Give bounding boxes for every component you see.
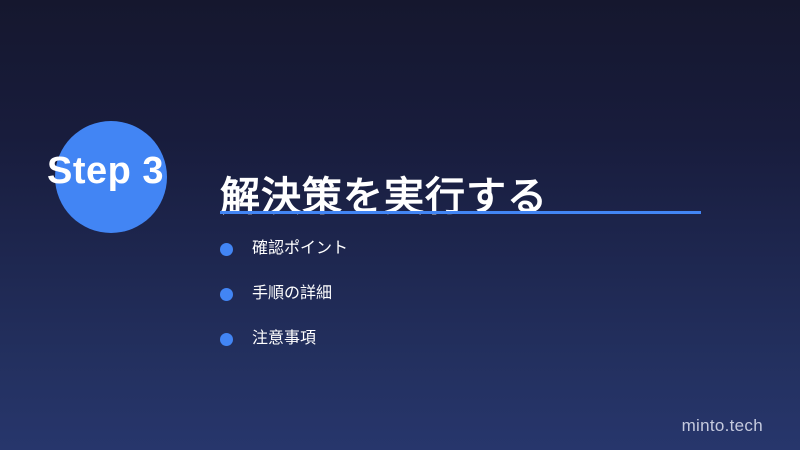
bullet-dot-icon — [220, 288, 233, 301]
step-label: Step 3 — [47, 147, 217, 195]
bullet-list: 確認ポイント 手順の詳細 注意事項 — [220, 237, 348, 372]
presentation-slide: Step 3 解決策を実行する 確認ポイント 手順の詳細 注意事項 minto.… — [0, 0, 800, 450]
bullet-dot-icon — [220, 333, 233, 346]
list-item: 確認ポイント — [220, 237, 348, 261]
bullet-dot-icon — [220, 243, 233, 256]
page-title: 解決策を実行する — [220, 171, 548, 223]
list-item: 注意事項 — [220, 327, 348, 351]
list-item-label: 確認ポイント — [252, 237, 348, 261]
footer-brand: minto.tech — [682, 416, 763, 436]
list-item: 手順の詳細 — [220, 282, 348, 306]
list-item-label: 注意事項 — [252, 327, 316, 351]
title-divider — [220, 211, 701, 214]
list-item-label: 手順の詳細 — [252, 282, 332, 306]
